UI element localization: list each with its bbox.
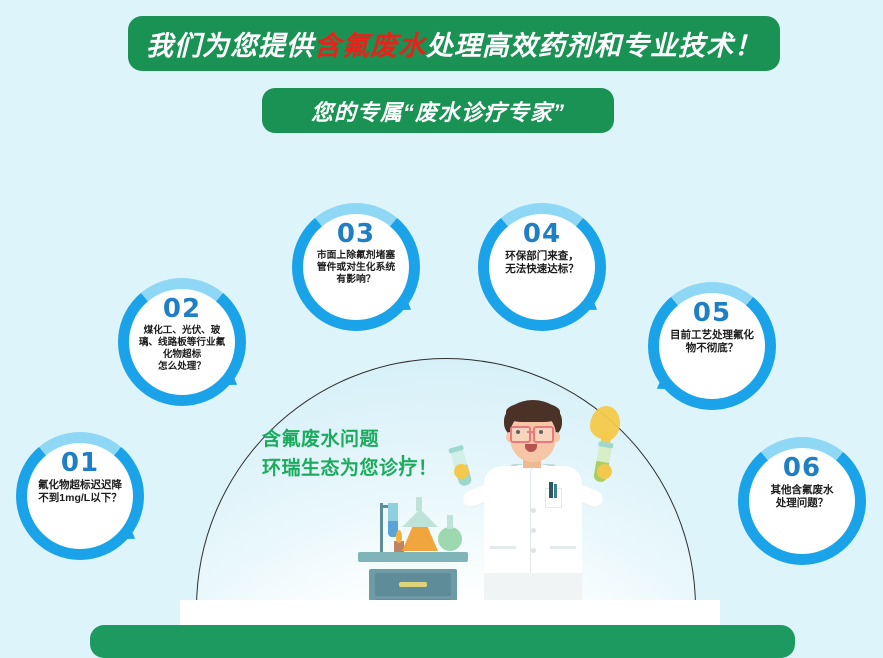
bubble-inner-01: 01 氟化物超标迟迟降 不到1mg/L以下？ bbox=[27, 443, 133, 549]
bubble-text-line: 氟化物超标迟迟降 bbox=[38, 479, 122, 492]
bubble-text-04: 环保部门来查， 无法快速达标？ bbox=[501, 250, 583, 276]
bubble-inner-05: 05 目前工艺处理氟化 物不彻底？ bbox=[659, 293, 765, 399]
exclamation-mark: ! bbox=[400, 452, 406, 473]
bubble-inner-02: 02 煤化工、光伏、玻 璃、线路板等行业氟 化物超标 怎么处理？ bbox=[129, 289, 235, 395]
pen-icon bbox=[549, 482, 553, 498]
question-bubble-01[interactable]: 01 氟化物超标迟迟降 不到1mg/L以下？ bbox=[16, 432, 144, 560]
test-tube-cap-icon bbox=[598, 441, 614, 449]
scientist-illustration bbox=[438, 398, 628, 628]
scientist-hair-front bbox=[506, 402, 560, 422]
bubble-number-06: 06 bbox=[783, 455, 821, 481]
bubble-text-line: 璃、线路板等行业氟 bbox=[139, 337, 225, 349]
bubble-number-04: 04 bbox=[523, 221, 561, 247]
scientist-ear bbox=[553, 432, 560, 442]
bubble-text-line: 管件或对生化系统 bbox=[317, 262, 395, 274]
main-banner: 我们为您提供含氟废水处理高效药剂和专业技术！ bbox=[128, 16, 780, 71]
banner-text-part2: 处理高效药剂和专业技术！ bbox=[426, 24, 762, 63]
coat-button-icon bbox=[531, 508, 536, 513]
bubble-text-line: 处理问题？ bbox=[771, 497, 834, 510]
glasses-bridge-icon bbox=[527, 431, 533, 433]
bubble-text-line: 怎么处理？ bbox=[139, 361, 225, 373]
bubble-text-03: 市面上除氟剂堵塞 管件或对生化系统 有影响？ bbox=[313, 250, 399, 287]
coat-pocket bbox=[490, 546, 516, 549]
bubble-text-line: 不到1mg/L以下？ bbox=[38, 492, 122, 505]
bubble-text-line: 煤化工、光伏、玻 bbox=[139, 325, 225, 337]
pen-icon bbox=[554, 484, 557, 498]
coat-pocket bbox=[550, 546, 576, 549]
test-tube-cap-icon bbox=[448, 445, 464, 454]
bubble-number-03: 03 bbox=[337, 221, 375, 247]
sub-banner: 您的专属“废水诊疗专家” bbox=[262, 88, 614, 133]
bubble-text-06: 其他含氟废水 处理问题？ bbox=[767, 484, 838, 510]
bubble-inner-04: 04 环保部门来查， 无法快速达标？ bbox=[489, 214, 595, 320]
question-bubble-03[interactable]: 03 市面上除氟剂堵塞 管件或对生化系统 有影响？ bbox=[292, 203, 420, 331]
coat-button-icon bbox=[531, 548, 536, 553]
coat-button-icon bbox=[531, 528, 536, 533]
question-bubble-04[interactable]: 04 环保部门来查， 无法快速达标？ bbox=[478, 203, 606, 331]
question-bubble-05[interactable]: 05 目前工艺处理氟化 物不彻底？ bbox=[648, 282, 776, 410]
bottom-green-bar bbox=[90, 625, 795, 658]
bubble-text-line: 环保部门来查， bbox=[505, 250, 579, 263]
banner-text-highlight: 含氟废水 bbox=[314, 24, 426, 63]
bubble-inner-06: 06 其他含氟废水 处理问题？ bbox=[749, 448, 855, 554]
bubble-inner-03: 03 市面上除氟剂堵塞 管件或对生化系统 有影响？ bbox=[303, 214, 409, 320]
question-bubble-06[interactable]: 06 其他含氟废水 处理问题？ bbox=[738, 437, 866, 565]
bubble-text-line: 目前工艺处理氟化 bbox=[670, 329, 754, 342]
stand-pole-icon bbox=[380, 503, 383, 555]
scientist-right-hand bbox=[597, 464, 612, 479]
drawer-handle-icon bbox=[399, 582, 427, 587]
glasses-icon bbox=[533, 426, 554, 443]
question-bubble-02[interactable]: 02 煤化工、光伏、玻 璃、线路板等行业氟 化物超标 怎么处理？ bbox=[118, 278, 246, 406]
sub-banner-text: 您的专属“废水诊疗专家” bbox=[311, 95, 565, 127]
bubble-text-02: 煤化工、光伏、玻 璃、线路板等行业氟 化物超标 怎么处理？ bbox=[135, 325, 229, 373]
bubble-text-line: 有影响？ bbox=[317, 274, 395, 286]
bubble-text-line: 物不彻底？ bbox=[670, 342, 754, 355]
glasses-icon bbox=[510, 426, 531, 443]
infographic-canvas: 我们为您提供含氟废水处理高效药剂和专业技术！ 您的专属“废水诊疗专家” 01 氟… bbox=[0, 0, 883, 658]
bubble-number-05: 05 bbox=[693, 300, 731, 326]
banner-text-part1: 我们为您提供 bbox=[146, 24, 314, 63]
bubble-text-01: 氟化物超标迟迟降 不到1mg/L以下？ bbox=[34, 479, 126, 505]
scientist-left-hand bbox=[454, 464, 469, 479]
bubble-text-line: 市面上除氟剂堵塞 bbox=[317, 250, 395, 262]
bubble-text-line: 化物超标 bbox=[139, 349, 225, 361]
conical-flask-neck-icon bbox=[416, 497, 422, 511]
bubble-text-line: 无法快速达标？ bbox=[505, 263, 579, 276]
bubble-number-01: 01 bbox=[61, 450, 99, 476]
conical-flask-glass-icon bbox=[402, 509, 438, 527]
bubble-number-02: 02 bbox=[163, 296, 201, 322]
bubble-text-line: 其他含氟废水 bbox=[771, 484, 834, 497]
bubble-text-05: 目前工艺处理氟化 物不彻底？ bbox=[666, 329, 758, 355]
